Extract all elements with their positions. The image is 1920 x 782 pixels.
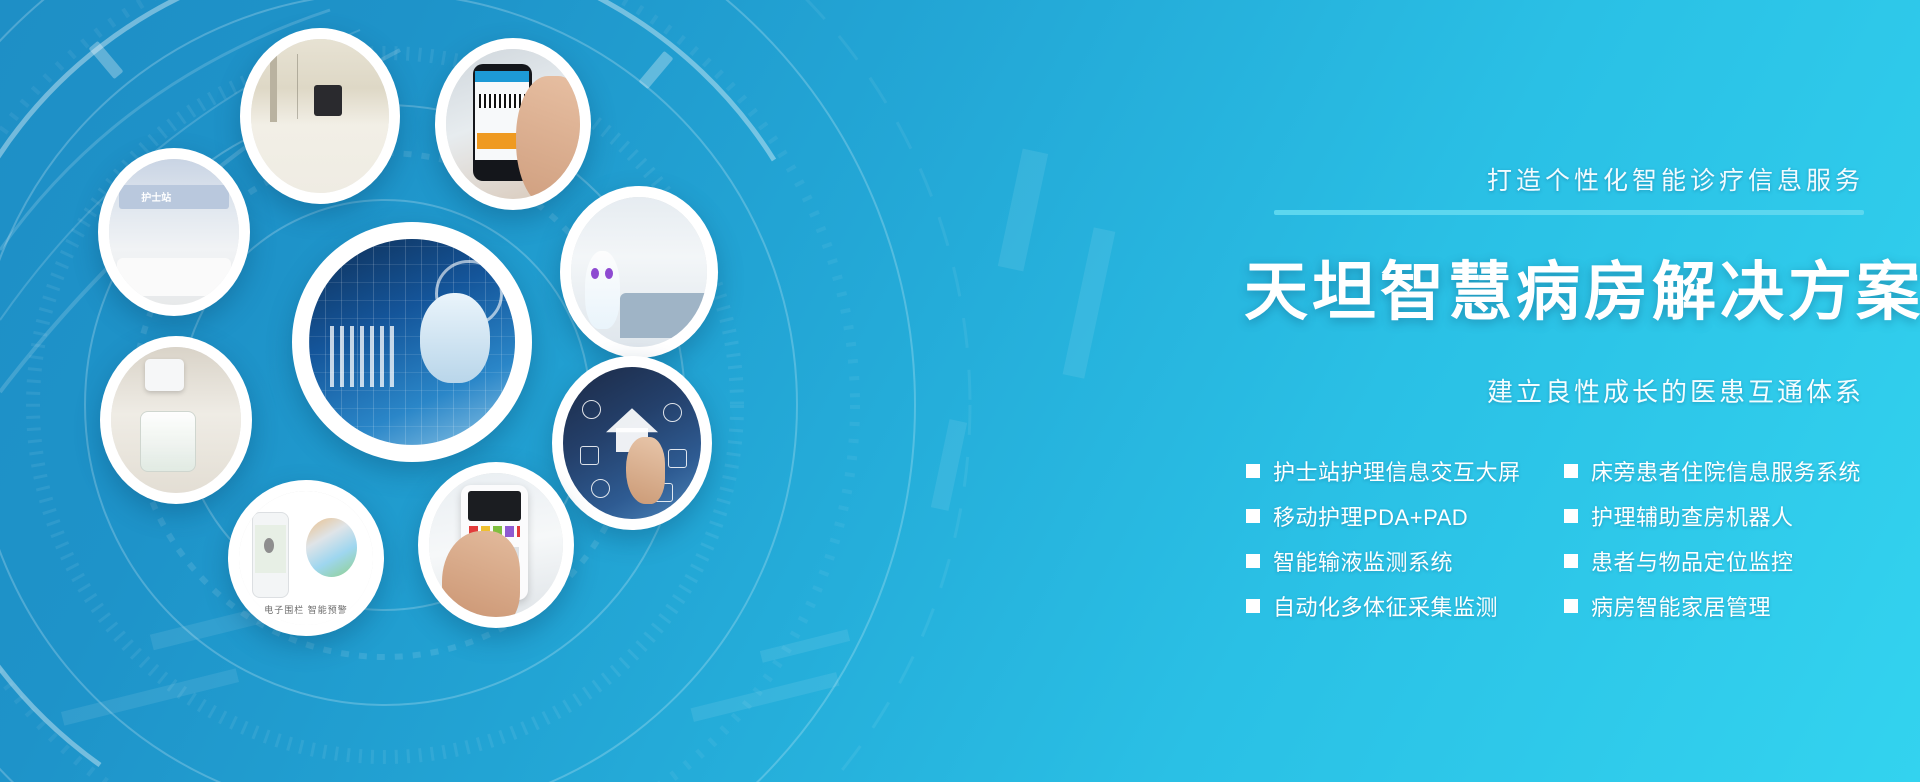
feature-label: 护理辅助查房机器人: [1591, 500, 1794, 532]
feature-label: 护士站护理信息交互大屏: [1273, 455, 1521, 487]
photo-bubble-scan: [435, 38, 591, 210]
banner-copy: 打造个性化智能诊疗信息服务 天坦智慧病房解决方案 建立良性成长的医患互通体系 护…: [1244, 168, 1864, 622]
feature-item: 自动化多体征采集监测: [1246, 590, 1546, 622]
photo-bubble-smart-home: [552, 356, 712, 530]
photo-bubble-nurse-station: 护士站: [98, 148, 250, 316]
feature-item: 床旁患者住院信息服务系统: [1564, 455, 1864, 487]
banner-eyebrow: 打造个性化智能诊疗信息服务: [1244, 168, 1864, 196]
bullet-square-icon: [1246, 599, 1260, 613]
photo-bubble-tracking: 电子围栏 智能预警: [228, 480, 384, 636]
feature-label: 移动护理PDA+PAD: [1273, 500, 1468, 532]
banner-tagline: 建立良性成长的医患互通体系: [1244, 372, 1864, 409]
feature-list: 护士站护理信息交互大屏 床旁患者住院信息服务系统 移动护理PDA+PAD 护理辅…: [1244, 455, 1864, 622]
bullet-square-icon: [1564, 554, 1578, 568]
nurse-station-sign-text: 护士站: [141, 189, 171, 204]
bullet-square-icon: [1564, 509, 1578, 523]
photo-bubble-center-ai: [292, 222, 532, 462]
feature-item: 护理辅助查房机器人: [1564, 500, 1864, 532]
photo-bubble-iv-device: [100, 336, 252, 504]
page-title: 天坦智慧病房解决方案: [1244, 257, 1864, 329]
feature-label: 病房智能家居管理: [1591, 590, 1771, 622]
marketing-banner: 护士站: [0, 0, 1920, 782]
bullet-square-icon: [1564, 464, 1578, 478]
photo-bubble-pda: [418, 462, 574, 628]
feature-label: 自动化多体征采集监测: [1273, 590, 1498, 622]
feature-label: 床旁患者住院信息服务系统: [1591, 455, 1861, 487]
feature-item: 移动护理PDA+PAD: [1246, 500, 1546, 532]
feature-item: 智能输液监测系统: [1246, 545, 1546, 577]
feature-item: 患者与物品定位监控: [1564, 545, 1864, 577]
photo-bubble-corridor-robot: [560, 186, 718, 358]
feature-label: 智能输液监测系统: [1273, 545, 1453, 577]
photo-bubble-bed: [240, 28, 400, 204]
feature-item: 病房智能家居管理: [1564, 590, 1864, 622]
feature-item: 护士站护理信息交互大屏: [1246, 455, 1546, 487]
bullet-square-icon: [1246, 554, 1260, 568]
feature-label: 患者与物品定位监控: [1591, 545, 1794, 577]
bullet-square-icon: [1564, 599, 1578, 613]
tracking-caption: 电子围栏 智能预警: [239, 603, 373, 616]
bullet-square-icon: [1246, 464, 1260, 478]
divider-rule: [1274, 210, 1864, 215]
bullet-square-icon: [1246, 509, 1260, 523]
